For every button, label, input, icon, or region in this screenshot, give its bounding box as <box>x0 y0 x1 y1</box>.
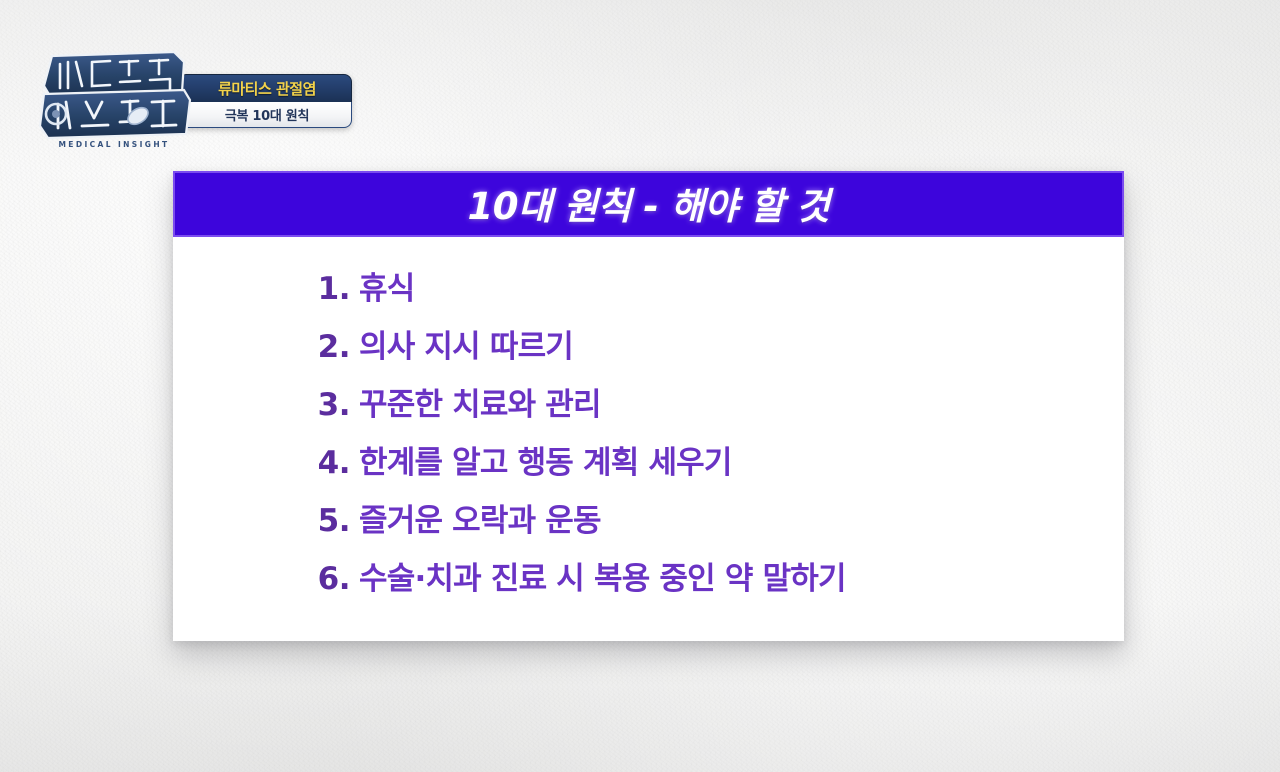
list-item-label: 의사 지시 따르기 <box>359 321 573 366</box>
list-item-label: 수술·치과 진료 시 복용 중인 약 말하기 <box>359 553 846 598</box>
list-item-label: 한계를 알고 행동 계획 세우기 <box>359 437 732 482</box>
topic-badge-primary-label: 류마티스 관절염 <box>218 78 316 99</box>
principles-card: 10대 원칙 - 해야 할 것 1. 휴식 2. 의사 지시 따르기 3. 꾸준… <box>173 171 1124 641</box>
list-item-label: 꾸준한 치료와 관리 <box>359 379 601 424</box>
principles-list: 1. 휴식 2. 의사 지시 따르기 3. 꾸준한 치료와 관리 4. 한계를 … <box>173 237 1124 611</box>
topic-badge: 류마티스 관절염 극복 10대 원칙 <box>182 74 352 128</box>
principles-card-title: 10대 원칙 - 해야 할 것 <box>467 176 829 230</box>
list-item-number: 4. <box>173 445 359 481</box>
program-logo-subtitle-text: MEDICAL INSIGHT <box>58 140 169 149</box>
list-item-number: 6. <box>173 561 359 597</box>
topic-badge-primary: 류마티스 관절염 <box>182 74 352 102</box>
list-item: 2. 의사 지시 따르기 <box>173 321 1124 379</box>
list-item-number: 2. <box>173 329 359 365</box>
list-item-label: 즐거운 오락과 운동 <box>359 495 601 540</box>
list-item: 5. 즐거운 오락과 운동 <box>173 495 1124 553</box>
list-item: 1. 휴식 <box>173 263 1124 321</box>
list-item: 4. 한계를 알고 행동 계획 세우기 <box>173 437 1124 495</box>
list-item-label: 휴식 <box>359 263 414 308</box>
list-item: 6. 수술·치과 진료 시 복용 중인 약 말하기 <box>173 553 1124 611</box>
list-item-number: 3. <box>173 387 359 423</box>
list-item-number: 1. <box>173 271 359 307</box>
program-logo-graphic: MEDICAL INSIGHT <box>34 48 194 152</box>
list-item: 3. 꾸준한 치료와 관리 <box>173 379 1124 437</box>
program-logo: MEDICAL INSIGHT <box>34 48 194 152</box>
broadcast-slide-background: MEDICAL INSIGHT 류마티스 관절염 극복 10대 원칙 10대 원… <box>0 0 1280 772</box>
principles-card-header: 10대 원칙 - 해야 할 것 <box>173 171 1124 237</box>
topic-badge-secondary: 극복 10대 원칙 <box>182 102 352 128</box>
topic-badge-secondary-label: 극복 10대 원칙 <box>225 105 309 124</box>
list-item-number: 5. <box>173 503 359 539</box>
